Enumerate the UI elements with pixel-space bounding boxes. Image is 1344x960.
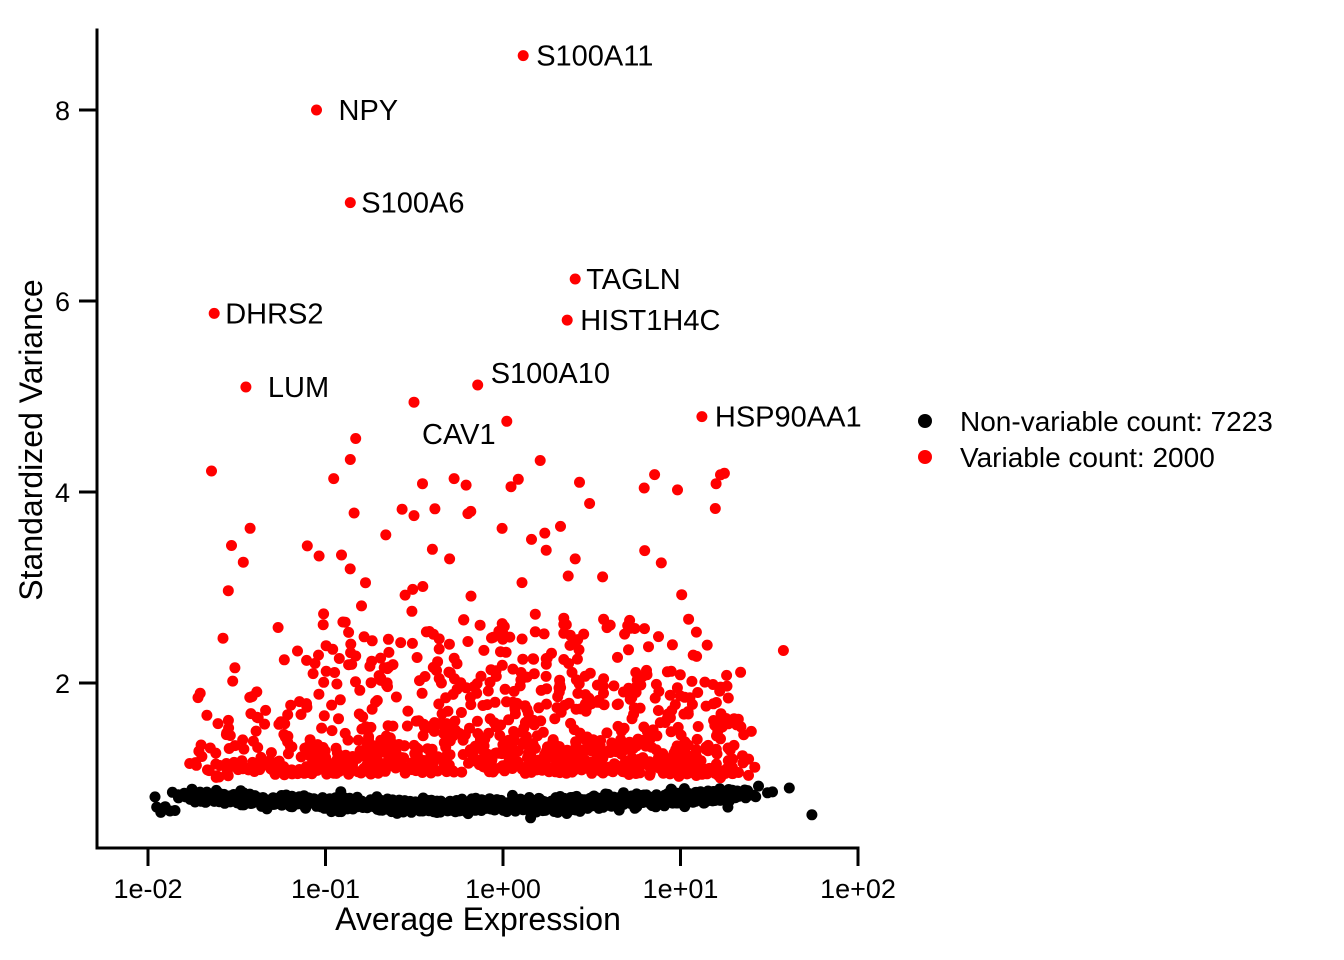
data-point-variable	[743, 770, 754, 781]
data-point-variable	[283, 748, 294, 759]
data-point-variable	[723, 693, 734, 704]
data-point-variable	[296, 709, 307, 720]
data-point-variable	[695, 761, 706, 772]
legend-marker-nonvariable	[918, 414, 932, 428]
data-point-variable	[727, 754, 738, 765]
data-point-variable	[417, 581, 428, 592]
data-point-variable	[554, 764, 565, 775]
data-point-variable	[221, 727, 232, 738]
data-point-variable	[639, 623, 650, 634]
data-point-variable	[388, 659, 399, 670]
data-point-variable	[210, 748, 221, 759]
data-point-variable	[318, 677, 329, 688]
labeled-point-lum	[240, 382, 251, 393]
data-point-variable	[409, 510, 420, 521]
data-point-variable	[327, 725, 338, 736]
data-point-variable	[458, 615, 469, 626]
data-point-variable	[363, 754, 374, 765]
data-point-variable	[699, 677, 710, 688]
data-point-nonvariable	[596, 793, 607, 804]
data-point-nonvariable	[337, 798, 348, 809]
data-point-nonvariable	[570, 805, 581, 816]
gene-label-dhrs2: DHRS2	[225, 298, 323, 330]
data-point-variable	[639, 545, 650, 556]
data-point-variable	[427, 544, 438, 555]
data-point-variable	[460, 729, 471, 740]
data-point-variable	[657, 748, 668, 759]
data-point-variable	[626, 692, 637, 703]
data-point-variable	[266, 747, 277, 758]
data-point-variable	[719, 468, 730, 479]
legend-label-nonvariable: Non-variable count: 7223	[960, 406, 1273, 437]
data-point-nonvariable	[155, 807, 166, 818]
x-tick-label: 1e+01	[643, 874, 719, 904]
data-point-nonvariable	[395, 797, 406, 808]
data-point-variable	[383, 647, 394, 658]
data-point-variable	[462, 636, 473, 647]
data-point-variable	[501, 647, 512, 658]
data-point-variable	[413, 715, 424, 726]
data-point-variable	[329, 667, 340, 678]
data-point-variable	[201, 710, 212, 721]
data-point-variable	[411, 746, 422, 757]
data-point-nonvariable	[228, 791, 239, 802]
data-point-variable	[350, 676, 361, 687]
data-point-variable	[508, 726, 519, 737]
data-point-variable	[478, 645, 489, 656]
data-point-variable	[560, 749, 571, 760]
data-point-variable	[412, 652, 423, 663]
data-point-variable	[651, 679, 662, 690]
data-point-variable	[358, 764, 369, 775]
data-point-variable	[475, 755, 486, 766]
data-point-variable	[584, 693, 595, 704]
data-point-variable	[691, 627, 702, 638]
data-point-variable	[539, 628, 550, 639]
data-point-variable	[491, 747, 502, 758]
data-point-variable	[310, 658, 321, 669]
data-point-variable	[649, 469, 660, 480]
data-point-variable	[193, 746, 204, 757]
data-point-variable	[472, 716, 483, 727]
data-point-variable	[301, 747, 312, 758]
data-point-variable	[466, 591, 477, 602]
data-point-variable	[612, 652, 623, 663]
data-point-variable	[331, 743, 342, 754]
nonvariable-points-layer	[150, 781, 818, 824]
gene-label-s100a11: S100A11	[536, 41, 653, 73]
data-point-variable	[675, 669, 686, 680]
data-point-variable	[512, 698, 523, 709]
data-point-nonvariable	[806, 809, 817, 820]
data-point-variable	[206, 466, 217, 477]
data-point-variable	[292, 768, 303, 779]
data-point-variable	[226, 540, 237, 551]
data-point-variable	[716, 708, 727, 719]
variable-feature-plot: 1e-021e-011e+001e+011e+02 2468 Average E…	[0, 0, 1344, 960]
plot-area: 1e-021e-011e+001e+011e+02 2468 Average E…	[0, 0, 1344, 960]
data-point-variable	[279, 718, 290, 729]
data-point-variable	[308, 668, 319, 679]
data-point-variable	[227, 676, 238, 687]
y-tick-label: 6	[55, 287, 70, 317]
data-point-variable	[528, 654, 539, 665]
data-point-variable	[302, 540, 313, 551]
data-point-nonvariable	[173, 789, 184, 800]
data-point-variable	[350, 433, 361, 444]
data-point-variable	[395, 637, 406, 648]
data-point-variable	[474, 743, 485, 754]
data-point-variable	[444, 553, 455, 564]
data-point-variable	[541, 671, 552, 682]
x-axis-tick-labels: 1e-021e-011e+001e+011e+02	[113, 874, 895, 904]
legend-label-variable: Variable count: 2000	[960, 442, 1215, 473]
data-point-variable	[686, 676, 697, 687]
data-point-variable	[397, 504, 408, 515]
data-point-variable	[343, 627, 354, 638]
data-point-variable	[653, 705, 664, 716]
data-point-variable	[279, 654, 290, 665]
data-point-variable	[383, 634, 394, 645]
data-point-variable	[517, 654, 528, 665]
data-point-nonvariable	[537, 805, 548, 816]
data-point-variable	[326, 700, 337, 711]
data-point-variable	[722, 681, 733, 692]
data-point-variable	[716, 720, 727, 731]
data-point-variable	[541, 683, 552, 694]
data-point-variable	[597, 571, 608, 582]
data-point-variable	[601, 727, 612, 738]
data-point-variable	[620, 766, 631, 777]
data-point-variable	[245, 523, 256, 534]
data-point-variable	[331, 679, 342, 690]
data-point-variable	[711, 478, 722, 489]
data-point-variable	[676, 730, 687, 741]
data-point-variable	[527, 738, 538, 749]
data-point-variable	[319, 710, 330, 721]
data-point-variable	[735, 667, 746, 678]
data-point-nonvariable	[646, 799, 657, 810]
data-point-variable	[305, 760, 316, 771]
data-point-nonvariable	[465, 798, 476, 809]
data-point-variable	[366, 656, 377, 667]
data-point-variable	[282, 731, 293, 742]
data-point-variable	[292, 646, 303, 657]
data-point-variable	[584, 498, 595, 509]
data-point-variable	[431, 665, 442, 676]
data-point-variable	[541, 699, 552, 710]
data-point-variable	[195, 688, 206, 699]
data-point-variable	[555, 521, 566, 532]
gene-label-cav1: CAV1	[422, 419, 496, 451]
data-point-nonvariable	[499, 801, 510, 812]
data-point-variable	[733, 714, 744, 725]
data-point-variable	[667, 639, 678, 650]
data-point-variable	[407, 584, 418, 595]
data-point-variable	[259, 719, 270, 730]
data-point-variable	[541, 659, 552, 670]
data-point-nonvariable	[753, 781, 764, 792]
data-point-variable	[595, 757, 606, 768]
scatter-plot-canvas: 1e-021e-011e+001e+011e+02 2468 Average E…	[0, 0, 1344, 960]
data-point-variable	[491, 722, 502, 733]
data-point-variable	[349, 508, 360, 519]
data-point-nonvariable	[559, 800, 570, 811]
data-point-variable	[238, 557, 249, 568]
data-point-variable	[613, 721, 624, 732]
data-point-variable	[465, 506, 476, 517]
data-point-variable	[520, 768, 531, 779]
data-point-variable	[456, 707, 467, 718]
data-point-variable	[580, 671, 591, 682]
data-point-variable	[247, 691, 258, 702]
data-point-nonvariable	[568, 792, 579, 803]
data-point-variable	[360, 721, 371, 732]
data-point-variable	[723, 743, 734, 754]
data-point-variable	[441, 718, 452, 729]
data-point-variable	[683, 614, 694, 625]
data-point-nonvariable	[681, 793, 692, 804]
data-point-variable	[541, 545, 552, 556]
data-point-variable	[390, 745, 401, 756]
y-tick-label: 4	[55, 478, 70, 508]
labeled-point-hsp90aa1	[696, 411, 707, 422]
data-point-variable	[285, 700, 296, 711]
data-point-variable	[380, 529, 391, 540]
data-point-variable	[631, 681, 642, 692]
data-point-variable	[402, 721, 413, 732]
data-point-variable	[570, 553, 581, 564]
data-point-variable	[605, 747, 616, 758]
data-point-variable	[655, 759, 666, 770]
data-point-nonvariable	[729, 789, 740, 800]
data-point-variable	[683, 740, 694, 751]
data-point-variable	[210, 759, 221, 770]
data-point-variable	[715, 733, 726, 744]
data-point-variable	[383, 720, 394, 731]
data-point-nonvariable	[190, 797, 201, 808]
data-point-variable	[628, 742, 639, 753]
labeled-point-s100a11	[518, 50, 529, 61]
variable-points-layer	[184, 416, 789, 784]
data-point-variable	[214, 772, 225, 783]
data-point-variable	[343, 735, 354, 746]
data-point-variable	[461, 480, 472, 491]
data-point-variable	[517, 738, 528, 749]
data-point-nonvariable	[201, 791, 212, 802]
data-point-variable	[402, 706, 413, 717]
data-point-variable	[223, 715, 234, 726]
data-point-variable	[418, 730, 429, 741]
data-point-variable	[366, 677, 377, 688]
x-tick-label: 1e+00	[465, 874, 541, 904]
data-point-variable	[247, 757, 258, 768]
data-point-variable	[452, 658, 463, 669]
data-point-variable	[356, 600, 367, 611]
data-point-variable	[623, 644, 634, 655]
data-point-variable	[238, 744, 249, 755]
data-point-nonvariable	[270, 798, 281, 809]
data-point-variable	[345, 454, 356, 465]
data-point-nonvariable	[432, 800, 443, 811]
data-point-variable	[500, 684, 511, 695]
data-point-variable	[672, 484, 683, 495]
data-point-variable	[563, 658, 574, 669]
data-point-nonvariable	[292, 799, 303, 810]
data-point-variable	[608, 680, 619, 691]
data-point-nonvariable	[706, 791, 717, 802]
y-axis-title: Standardized Variance	[13, 279, 49, 600]
data-point-variable	[436, 678, 447, 689]
data-point-variable	[333, 713, 344, 724]
data-point-variable	[407, 638, 418, 649]
data-point-variable	[359, 631, 370, 642]
data-point-variable	[593, 695, 604, 706]
data-point-variable	[581, 706, 592, 717]
data-point-variable	[450, 725, 461, 736]
data-point-variable	[442, 706, 453, 717]
data-point-variable	[313, 689, 324, 700]
data-point-nonvariable	[447, 803, 458, 814]
data-point-variable	[669, 748, 680, 759]
data-point-variable	[702, 640, 713, 651]
data-point-variable	[637, 752, 648, 763]
data-point-nonvariable	[722, 802, 733, 813]
labeled-point-tagln	[570, 274, 581, 285]
data-point-variable	[676, 589, 687, 600]
data-point-variable	[353, 735, 364, 746]
data-point-variable	[417, 478, 428, 489]
data-point-variable	[485, 677, 496, 688]
data-point-variable	[624, 615, 635, 626]
labeled-point-npy	[311, 105, 322, 116]
data-point-nonvariable	[244, 795, 255, 806]
data-point-variable	[360, 577, 371, 588]
data-point-variable	[682, 760, 693, 771]
data-point-variable	[506, 481, 517, 492]
data-point-variable	[229, 662, 240, 673]
data-point-variable	[687, 699, 698, 710]
data-point-variable	[406, 606, 417, 617]
data-point-variable	[643, 641, 654, 652]
data-point-nonvariable	[150, 791, 161, 802]
data-point-variable	[691, 651, 702, 662]
data-point-variable	[497, 760, 508, 771]
data-point-variable	[223, 585, 234, 596]
gene-label-tagln: TAGLN	[586, 264, 681, 296]
data-point-variable	[645, 768, 656, 779]
data-point-variable	[339, 764, 350, 775]
data-point-variable	[318, 619, 329, 630]
data-point-variable	[552, 691, 563, 702]
data-point-variable	[515, 680, 526, 691]
data-point-variable	[517, 634, 528, 645]
data-point-variable	[279, 769, 290, 780]
data-point-variable	[475, 620, 486, 631]
data-point-nonvariable	[668, 792, 679, 803]
data-point-variable	[301, 698, 312, 709]
data-point-nonvariable	[406, 801, 417, 812]
data-point-variable	[328, 473, 339, 484]
data-point-variable	[391, 692, 402, 703]
data-point-variable	[316, 723, 327, 734]
data-point-variable	[458, 749, 469, 760]
data-point-nonvariable	[767, 786, 778, 797]
data-point-variable	[321, 640, 332, 651]
data-point-variable	[672, 682, 683, 693]
data-point-variable	[574, 477, 585, 488]
data-point-variable	[712, 748, 723, 759]
data-point-variable	[642, 669, 653, 680]
legend-marker-variable	[918, 450, 932, 464]
data-point-variable	[778, 645, 789, 656]
gene-label-s100a10: S100A10	[491, 358, 610, 390]
data-point-variable	[648, 724, 659, 735]
data-point-nonvariable	[415, 801, 426, 812]
data-point-variable	[549, 713, 560, 724]
data-point-variable	[501, 696, 512, 707]
y-axis-ticks	[79, 110, 97, 683]
data-point-variable	[367, 704, 378, 715]
data-point-variable	[218, 633, 229, 644]
labeled-point-hist1h4c	[562, 315, 573, 326]
data-point-variable	[710, 503, 721, 514]
data-point-variable	[318, 608, 329, 619]
data-point-variable	[434, 644, 445, 655]
data-point-variable	[539, 528, 550, 539]
x-tick-label: 1e+02	[820, 874, 896, 904]
data-point-variable	[639, 483, 650, 494]
data-point-nonvariable	[487, 800, 498, 811]
data-point-variable	[574, 644, 585, 655]
data-point-variable	[417, 688, 428, 699]
data-point-variable	[273, 622, 284, 633]
data-point-variable	[565, 718, 576, 729]
data-point-variable	[429, 503, 440, 514]
x-axis-ticks	[148, 848, 858, 866]
x-tick-label: 1e-01	[291, 874, 360, 904]
data-point-variable	[448, 689, 459, 700]
labeled-point-s100a10	[472, 380, 483, 391]
data-point-nonvariable	[739, 785, 750, 796]
data-point-variable	[345, 563, 356, 574]
data-point-variable	[656, 557, 667, 568]
data-point-variable	[251, 726, 262, 737]
data-point-variable	[497, 523, 508, 534]
data-point-variable	[421, 626, 432, 637]
gene-label-lum: LUM	[268, 372, 329, 404]
gene-label-hist1h4c: HIST1H4C	[580, 305, 720, 337]
data-point-variable	[526, 534, 537, 545]
data-point-variable	[268, 766, 279, 777]
data-point-nonvariable	[321, 795, 332, 806]
data-point-nonvariable	[515, 802, 526, 813]
data-point-nonvariable	[362, 802, 373, 813]
data-point-variable	[493, 626, 504, 637]
labeled-point-s100a6	[345, 197, 356, 208]
data-point-nonvariable	[170, 805, 181, 816]
data-point-variable	[563, 571, 574, 582]
data-point-variable	[712, 765, 723, 776]
data-point-variable	[429, 764, 440, 775]
data-point-variable	[629, 702, 640, 713]
data-point-variable	[595, 740, 606, 751]
data-point-variable	[381, 760, 392, 771]
data-point-variable	[538, 727, 549, 738]
data-point-variable	[375, 673, 386, 684]
y-tick-label: 2	[55, 669, 70, 699]
y-tick-label: 8	[55, 96, 70, 126]
